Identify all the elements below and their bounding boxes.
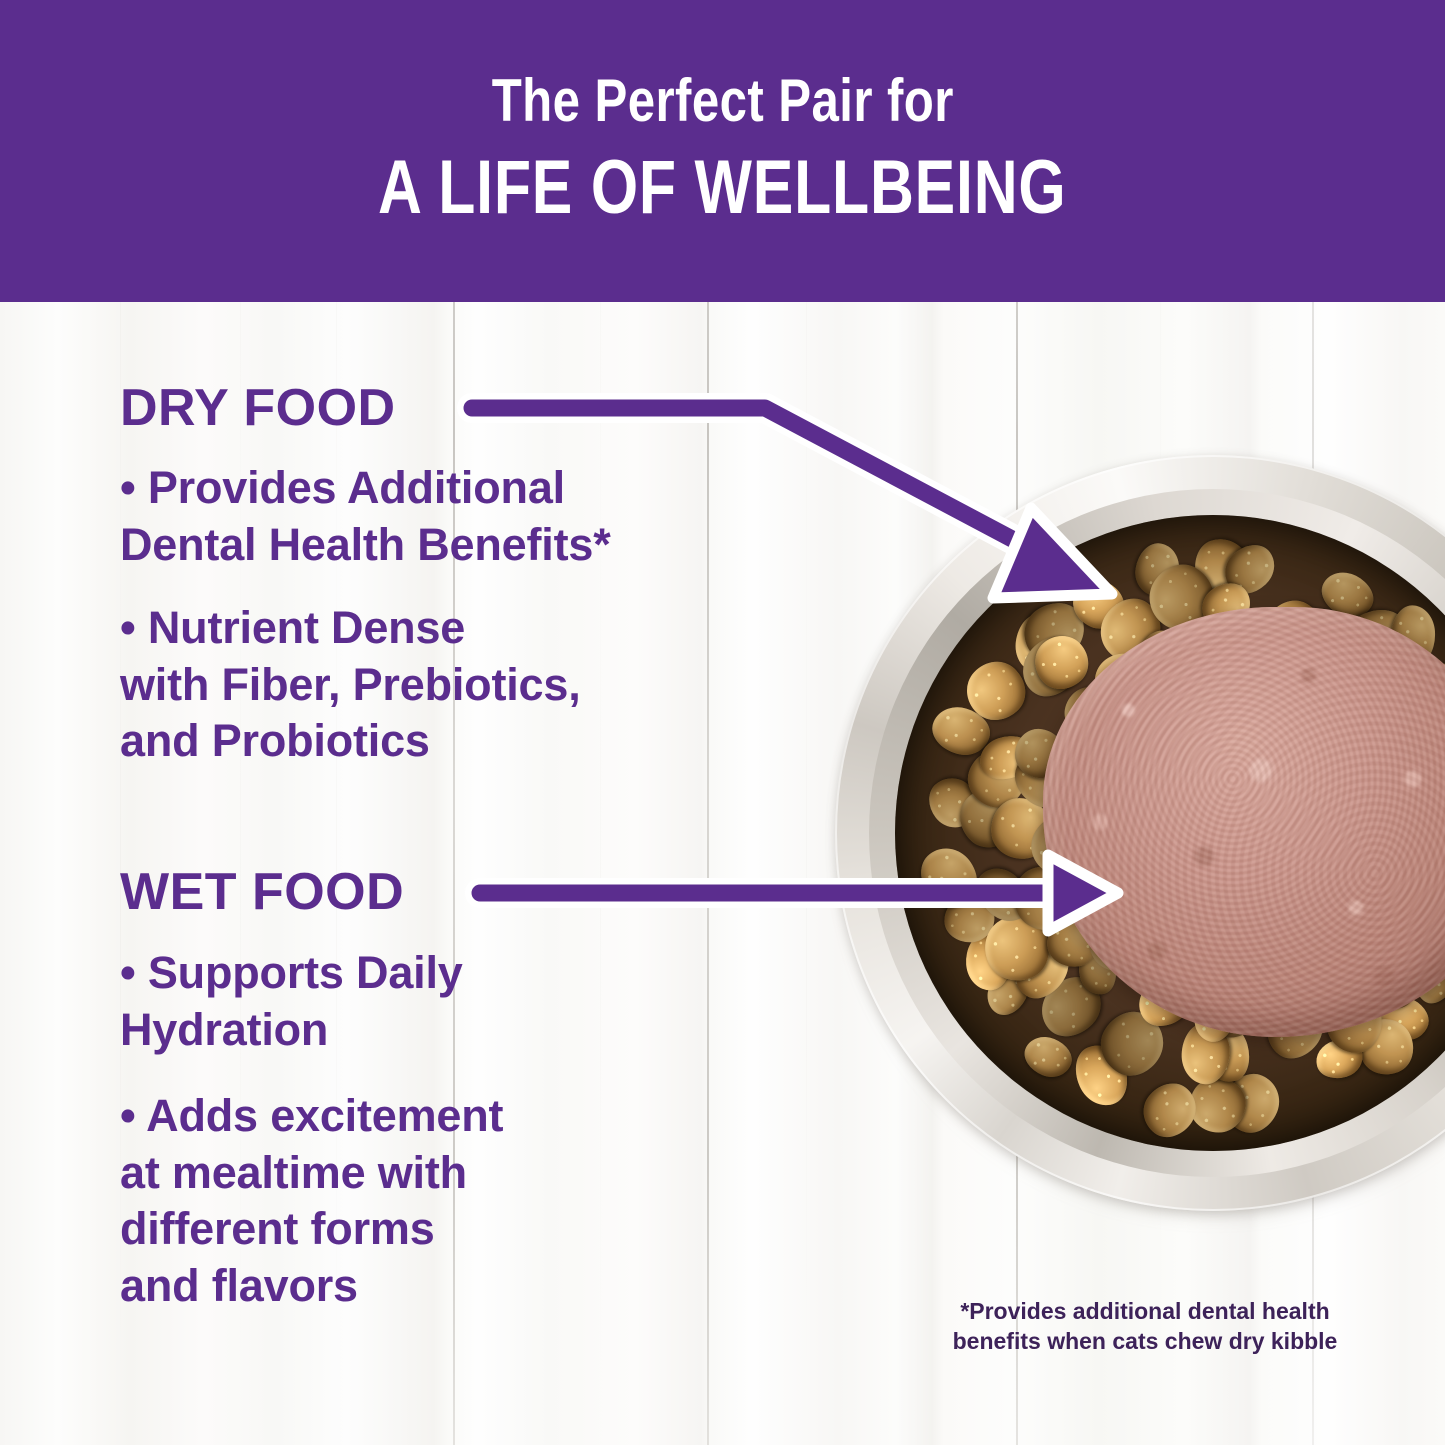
header-banner: The Perfect Pair for A LIFE OF WELLBEING [0, 0, 1445, 302]
kibble-piece [1190, 1078, 1246, 1133]
kibble-piece [1018, 1031, 1077, 1085]
bullet-line: and Probiotics [120, 713, 770, 770]
bullet-line: and flavors [120, 1258, 770, 1315]
bullet-line: • Provides Additional [120, 460, 770, 517]
wet-food-bullet-1: • Supports Daily Hydration [120, 945, 770, 1058]
bullet-line: Dental Health Benefits* [120, 517, 770, 574]
bullet-line: at mealtime with [120, 1145, 770, 1202]
footnote-line1: *Provides additional dental health [930, 1297, 1360, 1327]
section-heading-dry-food: DRY FOOD [120, 382, 396, 434]
kibble-piece [1133, 1073, 1206, 1147]
wet-food-bullet-2: • Adds excitement at mealtime with diffe… [120, 1088, 770, 1315]
header-title-line2: A LIFE OF WELLBEING [378, 149, 1066, 227]
bullet-line: • Nutrient Dense [120, 600, 770, 657]
bullet-line: different forms [120, 1201, 770, 1258]
dry-food-bullet-1: • Provides Additional Dental Health Bene… [120, 460, 770, 573]
section-heading-wet-food: WET FOOD [120, 866, 404, 918]
bullet-line: Hydration [120, 1002, 770, 1059]
bullet-line: • Adds excitement [120, 1088, 770, 1145]
pet-food-bowl-image [835, 455, 1445, 1215]
bullet-line: with Fiber, Prebiotics, [120, 657, 770, 714]
bullet-line: • Supports Daily [120, 945, 770, 1002]
product-infographic: The Perfect Pair for A LIFE OF WELLBEING… [0, 0, 1445, 1445]
footnote: *Provides additional dental health benef… [930, 1297, 1360, 1357]
header-title-line1: The Perfect Pair for [491, 70, 953, 131]
dry-food-bullet-2: • Nutrient Dense with Fiber, Prebiotics,… [120, 600, 770, 770]
footnote-line2: benefits when cats chew dry kibble [930, 1327, 1360, 1357]
